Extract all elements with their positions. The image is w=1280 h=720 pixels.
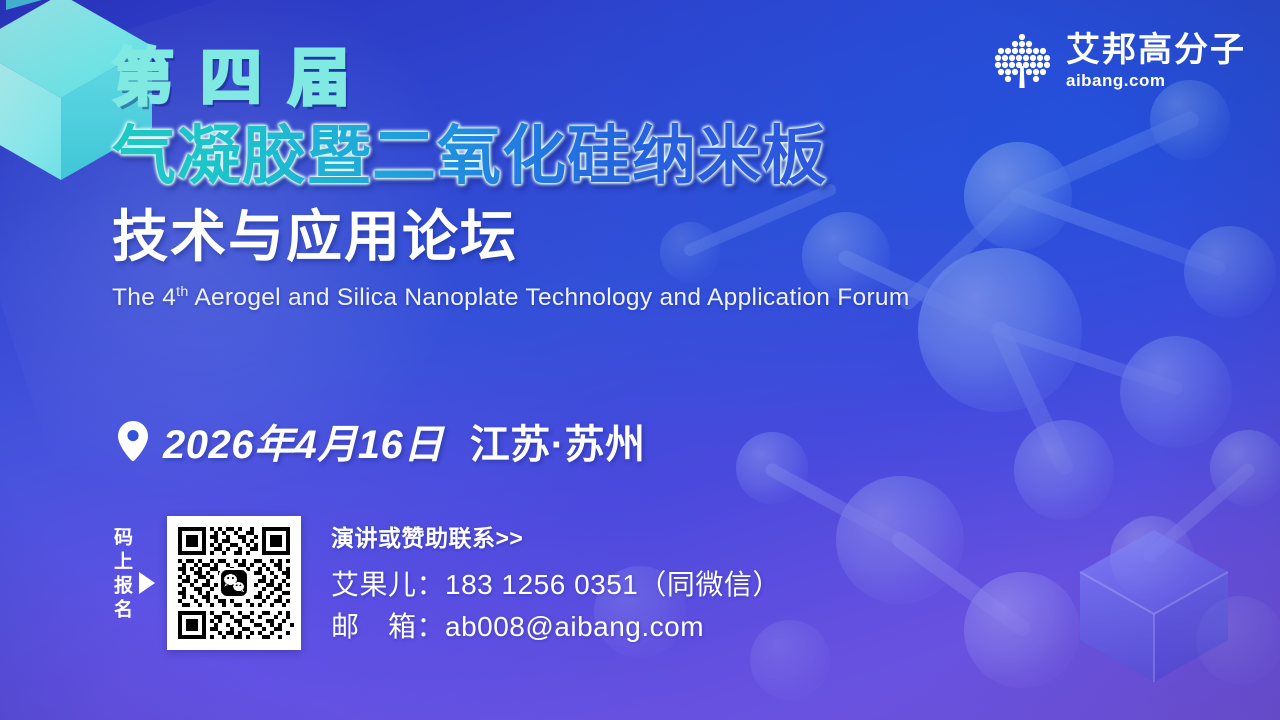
contact-email: 邮 箱：ab008@aibang.com bbox=[331, 606, 781, 647]
title-line-2: 气凝胶暨二氧化硅纳米板 bbox=[112, 119, 910, 195]
location-pin-icon bbox=[118, 421, 148, 461]
aibang-logo[interactable]: 艾邦高分子 aibang.com bbox=[991, 30, 1246, 92]
event-city: 江苏·苏州 bbox=[470, 423, 646, 467]
english-subtitle: The 4th Aerogel and Silica Nanoplate Tec… bbox=[112, 284, 910, 312]
aibang-tree-dots-icon bbox=[991, 30, 1053, 92]
subtitle-ordinal-suffix: th bbox=[176, 284, 188, 300]
scan-label-text: 码上报名 bbox=[112, 527, 131, 639]
subtitle-post: Aerogel and Silica Nanoplate Technology … bbox=[189, 284, 910, 311]
play-triangle-icon bbox=[139, 572, 155, 594]
title-line-3: 技术与应用论坛 bbox=[112, 205, 910, 270]
wechat-qr-code[interactable] bbox=[167, 516, 301, 650]
title-line-1: 第四届 bbox=[112, 44, 910, 113]
contact-info: 演讲或赞助联系>> 艾果儿：183 1256 0351（同微信） 邮 箱：ab0… bbox=[331, 519, 781, 647]
isometric-cube-blue-icon bbox=[1064, 516, 1244, 696]
subtitle-pre: The 4 bbox=[112, 284, 176, 311]
headline-block: 第四届 气凝胶暨二氧化硅纳米板 技术与应用论坛 The 4th Aerogel … bbox=[112, 44, 910, 312]
contact-person-phone: 艾果儿：183 1256 0351（同微信） bbox=[331, 564, 781, 605]
conference-poster: 艾邦高分子 aibang.com 第四届 气凝胶暨二氧化硅纳米板 技术与应用论坛… bbox=[0, 0, 1280, 720]
logo-text-group: 艾邦高分子 aibang.com bbox=[1066, 33, 1246, 89]
event-date: 2026年4月16日 bbox=[163, 423, 444, 467]
scan-to-register-label: 码上报名 bbox=[112, 527, 155, 639]
contact-heading: 演讲或赞助联系>> bbox=[331, 519, 781, 553]
logo-name-en: aibang.com bbox=[1066, 72, 1246, 89]
registration-and-contact: 码上报名 bbox=[112, 516, 781, 650]
logo-name-cn: 艾邦高分子 bbox=[1066, 33, 1246, 67]
event-datetime-location: 2026年4月16日江苏·苏州 bbox=[118, 412, 646, 470]
date-and-city: 2026年4月16日江苏·苏州 bbox=[163, 412, 646, 470]
